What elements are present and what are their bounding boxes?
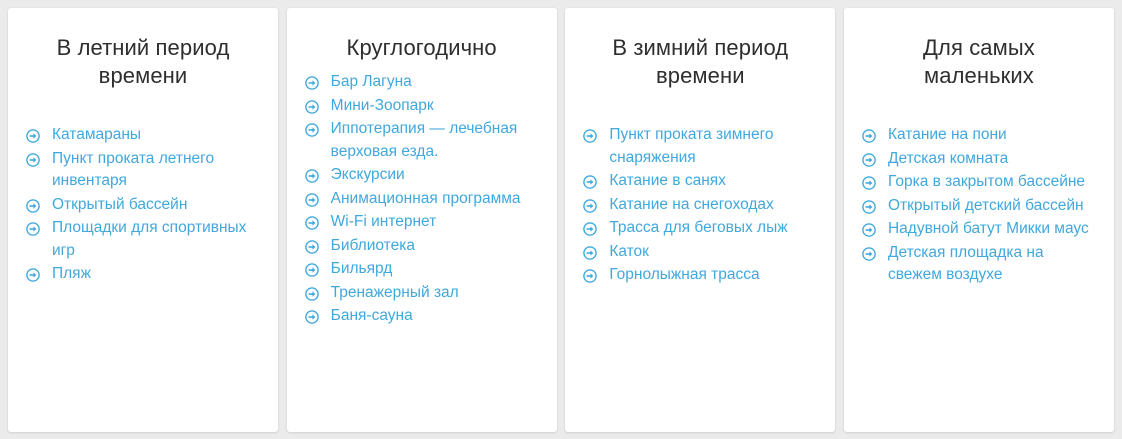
list-item: Открытый детский бассейн [862,195,1096,218]
circle-arrow-right-icon [862,222,876,236]
list-item-label: Wi-Fi интернет [331,213,437,230]
circle-arrow-right-icon [305,192,319,206]
list-item: Надувной батут Микки маус [862,218,1096,241]
list-item-label: Детская площадка на свежем воздухе [888,244,1044,284]
list-item-label: Катамараны [52,126,141,143]
list-item-label: Горнолыжная трасса [609,266,759,283]
list-item-label: Экскурсии [331,166,405,183]
list-item: Анимационная программа [305,188,539,211]
circle-arrow-right-icon [26,267,40,281]
list-item: Горнолыжная трасса [583,264,817,287]
circle-arrow-right-icon [862,128,876,142]
list-item-label: Пункт проката летнего инвентаря [52,150,214,190]
circle-arrow-right-icon [26,128,40,142]
list-item: Баня-сауна [305,305,539,328]
list-item: Бар Лагуна [305,71,539,94]
circle-arrow-right-icon [305,286,319,300]
list-item: Катание на снегоходах [583,194,817,217]
list-item-label: Мини-Зоопарк [331,97,434,114]
circle-arrow-right-icon [862,152,876,166]
list-item-label: Катание на пони [888,126,1007,143]
list-item: Катание на пони [862,124,1096,147]
list-item-label: Иппотерапия — лечебная верховая езда. [331,120,518,160]
list-item: Трасса для беговых лыж [583,217,817,240]
circle-arrow-right-icon [26,198,40,212]
circle-arrow-right-icon [583,245,597,259]
list-item-label: Открытый бассейн [52,196,187,213]
amenities-card-summer: В летний период времени КатамараныПункт … [8,8,278,432]
list-item: Бильярд [305,258,539,281]
circle-arrow-right-icon [305,215,319,229]
card-list: Бар ЛагунаМини-ЗоопаркИппотерапия — лече… [305,71,539,329]
list-item: Катание в санях [583,170,817,193]
card-title: В летний период времени [26,34,260,90]
card-list: Пункт проката зимнего снаряженияКатание … [583,124,817,288]
list-item: Пляж [26,263,260,286]
circle-arrow-right-icon [305,99,319,113]
circle-arrow-right-icon [862,175,876,189]
list-item: Детская комната [862,148,1096,171]
list-item-label: Тренажерный зал [331,284,459,301]
circle-arrow-right-icon [26,152,40,166]
list-item: Wi-Fi интернет [305,211,539,234]
list-item: Экскурсии [305,164,539,187]
list-item: Пункт проката летнего инвентаря [26,148,260,193]
circle-arrow-right-icon [305,122,319,136]
list-item: Иппотерапия — лечебная верховая езда. [305,118,539,163]
circle-arrow-right-icon [305,239,319,253]
list-item-label: Площадки для спортивных игр [52,219,246,259]
circle-arrow-right-icon [305,262,319,276]
circle-arrow-right-icon [305,75,319,89]
list-item: Открытый бассейн [26,194,260,217]
list-item-label: Бильярд [331,260,393,277]
list-item-label: Катание на снегоходах [609,196,773,213]
card-title: Круглогодично [305,34,539,62]
list-item: Мини-Зоопарк [305,95,539,118]
list-item-label: Горка в закрытом бассейне [888,173,1085,190]
list-item: Библиотека [305,235,539,258]
card-list: Катание на пониДетская комнатаГорка в за… [862,124,1096,288]
list-item-label: Трасса для беговых лыж [609,219,787,236]
amenities-card-kids: Для самых маленьких Катание на пониДетск… [844,8,1114,432]
amenities-card-board: В летний период времени КатамараныПункт … [0,0,1122,439]
circle-arrow-right-icon [26,221,40,235]
list-item: Каток [583,241,817,264]
card-list: КатамараныПункт проката летнего инвентар… [26,124,260,287]
circle-arrow-right-icon [305,168,319,182]
circle-arrow-right-icon [583,174,597,188]
list-item: Площадки для спортивных игр [26,217,260,262]
circle-arrow-right-icon [862,199,876,213]
list-item: Детская площадка на свежем воздухе [862,242,1096,287]
circle-arrow-right-icon [583,268,597,282]
list-item-label: Пляж [52,265,91,282]
list-item: Катамараны [26,124,260,147]
circle-arrow-right-icon [583,198,597,212]
circle-arrow-right-icon [583,128,597,142]
amenities-card-year-round: Круглогодично Бар ЛагунаМини-ЗоопаркИппо… [287,8,557,432]
card-title: Для самых маленьких [862,34,1096,90]
list-item-label: Открытый детский бассейн [888,197,1084,214]
list-item: Горка в закрытом бассейне [862,171,1096,194]
list-item-label: Библиотека [331,237,415,254]
list-item-label: Катание в санях [609,172,726,189]
circle-arrow-right-icon [862,246,876,260]
list-item-label: Детская комната [888,150,1008,167]
list-item: Тренажерный зал [305,282,539,305]
list-item-label: Анимационная программа [331,190,521,207]
circle-arrow-right-icon [305,309,319,323]
list-item: Пункт проката зимнего снаряжения [583,124,817,169]
circle-arrow-right-icon [583,221,597,235]
amenities-card-winter: В зимний период времени Пункт проката зи… [565,8,835,432]
list-item-label: Каток [609,243,649,260]
list-item-label: Баня-сауна [331,307,413,324]
list-item-label: Бар Лагуна [331,73,412,90]
list-item-label: Пункт проката зимнего снаряжения [609,126,773,166]
card-title: В зимний период времени [583,34,817,90]
list-item-label: Надувной батут Микки маус [888,220,1089,237]
